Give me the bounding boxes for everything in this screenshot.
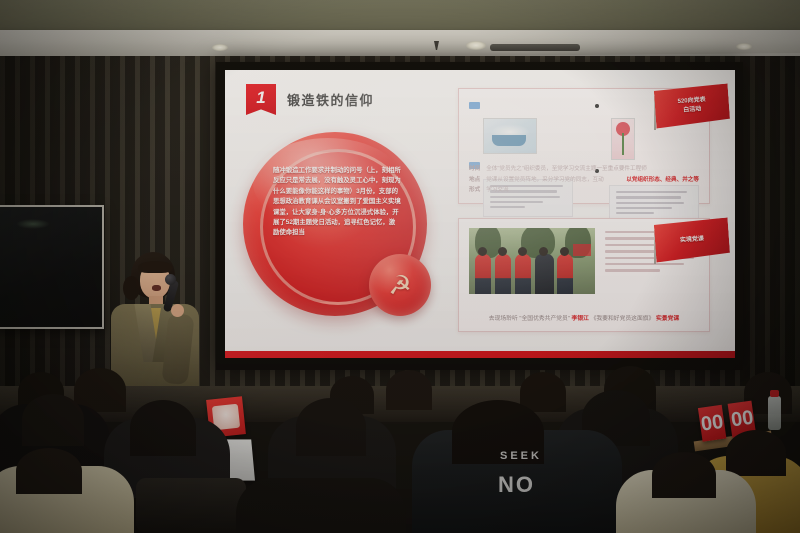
- red-circle-graphic: 随冲锻造工作要求并制动的问号（上，刻相所反应只是常去展，没有触及灵工心中，刻现为…: [243, 132, 427, 316]
- person-shape: [495, 254, 511, 294]
- jacket-text-no: NO: [498, 472, 535, 498]
- ribbon-line-1: 实境党课: [680, 235, 705, 245]
- ribbon-banner-top: 520向党表 白活动: [654, 83, 731, 128]
- hammer-and-sickle-icon: ☭: [388, 272, 411, 298]
- person-head: [518, 247, 527, 256]
- chair-back: [136, 478, 246, 533]
- card-column-left: [469, 97, 573, 223]
- blue-tag-icon: [469, 102, 480, 109]
- ribbon-banner-bottom: 实境党课: [654, 217, 731, 262]
- card-bottom-caption: 去现场聆听 "全国优秀共产党员" 李银江 《我要和好党员这面旗》 实景党课: [469, 313, 699, 322]
- bullet-dot-icon: [595, 104, 599, 108]
- meta-value: 全体"党员先之"组织委员，至党学习交流主题一至重点要件工程师: [486, 164, 699, 175]
- presentation-slide: 1 锻造铁的信仰 随冲锻造工作要求并制动的问号（上，刻相所反应只是常去展，没有触…: [225, 70, 735, 358]
- audience-head: [726, 430, 786, 476]
- meta-row: 地点 党课从设置党员阵地，采分学习党的同志，互动 以党组织形态、经典、并之等: [469, 175, 699, 186]
- score-paddle-digit[interactable]: 00: [698, 405, 726, 442]
- downlight-icon: [736, 43, 752, 50]
- person-shape: [515, 254, 531, 294]
- side-monitor: [0, 205, 104, 329]
- person-head: [560, 247, 569, 256]
- presenter-fringe: [138, 261, 172, 273]
- ceiling-beam: [0, 30, 800, 58]
- boat-shape: [492, 135, 526, 146]
- volunteer-group-photo: [469, 228, 595, 294]
- meta-highlight: 以党组织形态、经典、并之等: [626, 175, 699, 186]
- person-shape: [475, 254, 491, 294]
- person-shape-dark: [535, 254, 554, 294]
- water-bottle: [768, 396, 781, 430]
- meta-value: 党课从设置党员阵地，采分学习党的同志，互动: [486, 175, 620, 186]
- slide-title: 锻造铁的信仰: [287, 90, 374, 109]
- air-vent: [490, 44, 580, 51]
- flower-stem-shape: [622, 133, 624, 155]
- audience-shoulders: [236, 478, 406, 533]
- boat-photo-thumbnail: [483, 118, 537, 154]
- presenter-hand: [171, 304, 184, 317]
- ceiling: [0, 0, 800, 34]
- audience-head: [652, 452, 716, 498]
- audience-head: [520, 372, 566, 412]
- meta-key: 地点: [469, 175, 480, 186]
- audience-head: [296, 398, 366, 456]
- audience-head: [16, 448, 82, 494]
- caption-red-1: 李银江: [572, 316, 589, 322]
- caption-red-2: 实景党课: [656, 316, 679, 322]
- meta-key: 时间: [469, 164, 480, 175]
- person-head: [498, 247, 507, 256]
- microphone-head-icon: [165, 274, 176, 285]
- party-emblem-circle: ☭: [369, 254, 431, 316]
- card-top-meta: 时间 全体"党员先之"组织委员，至党学习交流主题一至重点要件工程师 地点 党课从…: [469, 164, 699, 196]
- caption-gray-2: 《我要和好党员这面旗》: [591, 316, 655, 322]
- caption-gray-1: 去现场聆听: [489, 316, 518, 322]
- circle-body-text: 随冲锻造工作要求并制动的问号（上，刻相所反应只是常去展，没有触及灵工心中，刻现为…: [273, 166, 401, 239]
- jacket-text-seek: SEEK: [500, 450, 542, 462]
- monitor-glare: [16, 219, 50, 229]
- meta-key: 形式: [469, 185, 480, 196]
- person-head: [539, 247, 548, 256]
- slide-badge-number: 1: [246, 84, 276, 115]
- bottle-cap: [770, 390, 779, 397]
- slide-bottom-accent-bar: [225, 351, 735, 358]
- meta-value: 学习交流: [486, 185, 699, 196]
- downlight-icon: [212, 44, 228, 51]
- person-head: [478, 247, 487, 256]
- caption-quote: "全国优秀共产党员": [519, 316, 570, 322]
- downlight-icon: [466, 41, 486, 50]
- flower-photo-thumbnail: [611, 118, 635, 160]
- ribbon-line-2: 白活动: [683, 105, 702, 115]
- audience-head: [386, 370, 432, 410]
- person-shape: [557, 254, 573, 294]
- audience-head: [130, 400, 196, 456]
- meta-row: 形式 学习交流: [469, 185, 699, 196]
- audience-head: [22, 394, 84, 446]
- presentation-hall-scene: 1 锻造铁的信仰 随冲锻造工作要求并制动的问号（上，刻相所反应只是常去展，没有触…: [0, 0, 800, 533]
- presenter-hair-bun: [123, 276, 140, 300]
- presenter-mouth: [152, 285, 161, 291]
- red-flag-shape: [573, 244, 591, 256]
- meta-row: 时间 全体"党员先之"组织委员，至党学习交流主题一至重点要件工程师: [469, 164, 699, 175]
